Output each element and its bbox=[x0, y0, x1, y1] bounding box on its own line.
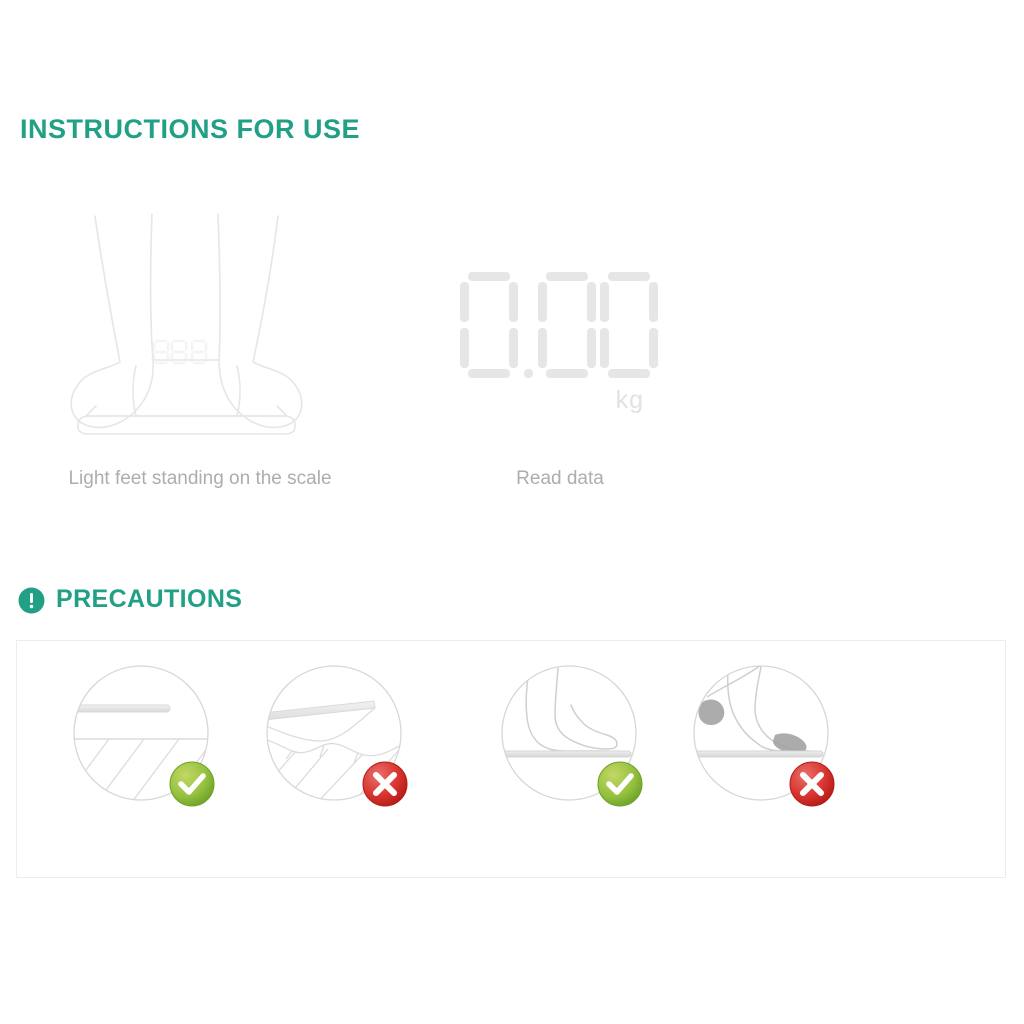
instruction-step-1: Light feet standing on the scale bbox=[40, 210, 360, 440]
check-badge-icon bbox=[169, 761, 215, 807]
precaution-item-bare-foot bbox=[497, 661, 657, 821]
instruction-step-2: kg Read data bbox=[400, 210, 720, 440]
precaution-item-soft-carpet bbox=[262, 661, 422, 821]
feet-on-scale-illustration bbox=[40, 210, 360, 440]
precaution-item-hard-floor bbox=[69, 661, 229, 821]
instruction-step-1-caption: Light feet standing on the scale bbox=[40, 468, 360, 490]
instruction-steps: Light feet standing on the scale bbox=[0, 210, 1024, 510]
instruction-step-2-caption: Read data bbox=[400, 468, 720, 490]
precautions-panel bbox=[16, 640, 1006, 878]
cross-badge-icon bbox=[362, 761, 408, 807]
exclamation-circle-icon bbox=[18, 587, 45, 614]
lcd-digits: kg bbox=[458, 268, 658, 418]
lcd-readout-illustration: kg bbox=[400, 210, 720, 440]
cross-badge-icon bbox=[789, 761, 835, 807]
lcd-unit-label: kg bbox=[458, 386, 644, 415]
page-title: INSTRUCTIONS FOR USE bbox=[20, 114, 360, 145]
precautions-title: PRECAUTIONS bbox=[56, 585, 242, 614]
precaution-item-sock-foot bbox=[689, 661, 849, 821]
check-badge-icon bbox=[597, 761, 643, 807]
